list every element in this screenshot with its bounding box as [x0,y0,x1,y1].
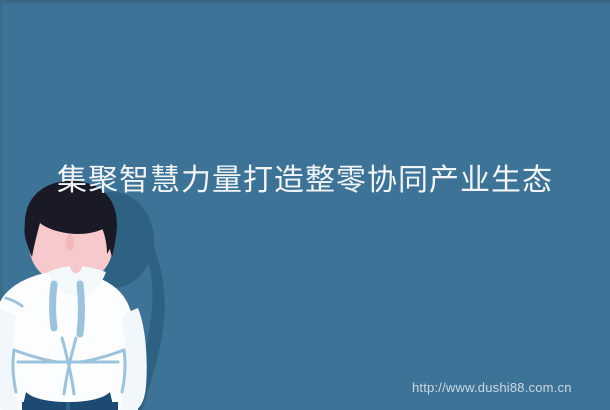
top-edge-shading [0,0,610,5]
watermark-url: http://www.dushi88.com.cn [412,379,572,397]
page-title: 集聚智慧力量打造整零协同产业生态 [0,162,610,200]
person-illustration [0,180,182,410]
banner-image: 集聚智慧力量打造整零协同产业生态 http://www.dushi88.com.… [0,0,610,410]
